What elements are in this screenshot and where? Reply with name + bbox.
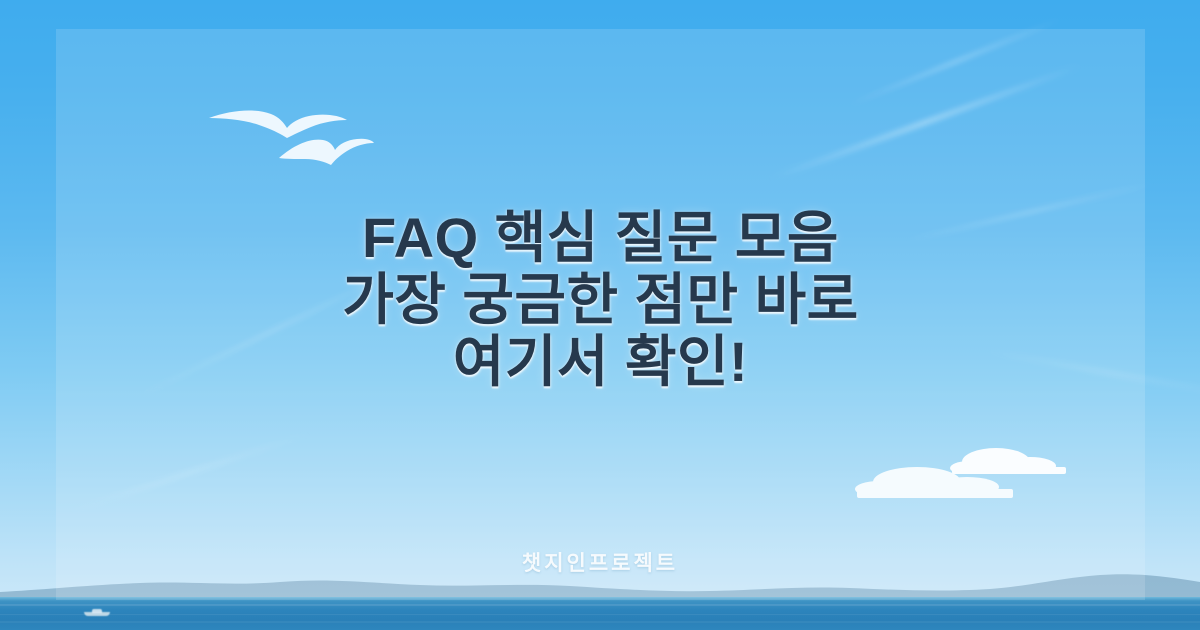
background-photo xyxy=(0,0,1200,630)
cloud-icon xyxy=(855,462,1015,498)
seagull-icon xyxy=(205,96,375,180)
sky-gradient xyxy=(0,0,1200,598)
boat-cabin xyxy=(92,609,102,613)
sea-water xyxy=(0,597,1200,630)
mountain-ridge-icon xyxy=(0,572,1200,598)
water-band xyxy=(0,604,1200,606)
water-band xyxy=(0,614,1200,615)
faq-banner: FAQ 핵심 질문 모음 가장 궁금한 점만 바로 여기서 확인! 챗지인프로젝… xyxy=(0,0,1200,630)
water-band xyxy=(0,621,1200,623)
boat-icon xyxy=(84,608,110,616)
